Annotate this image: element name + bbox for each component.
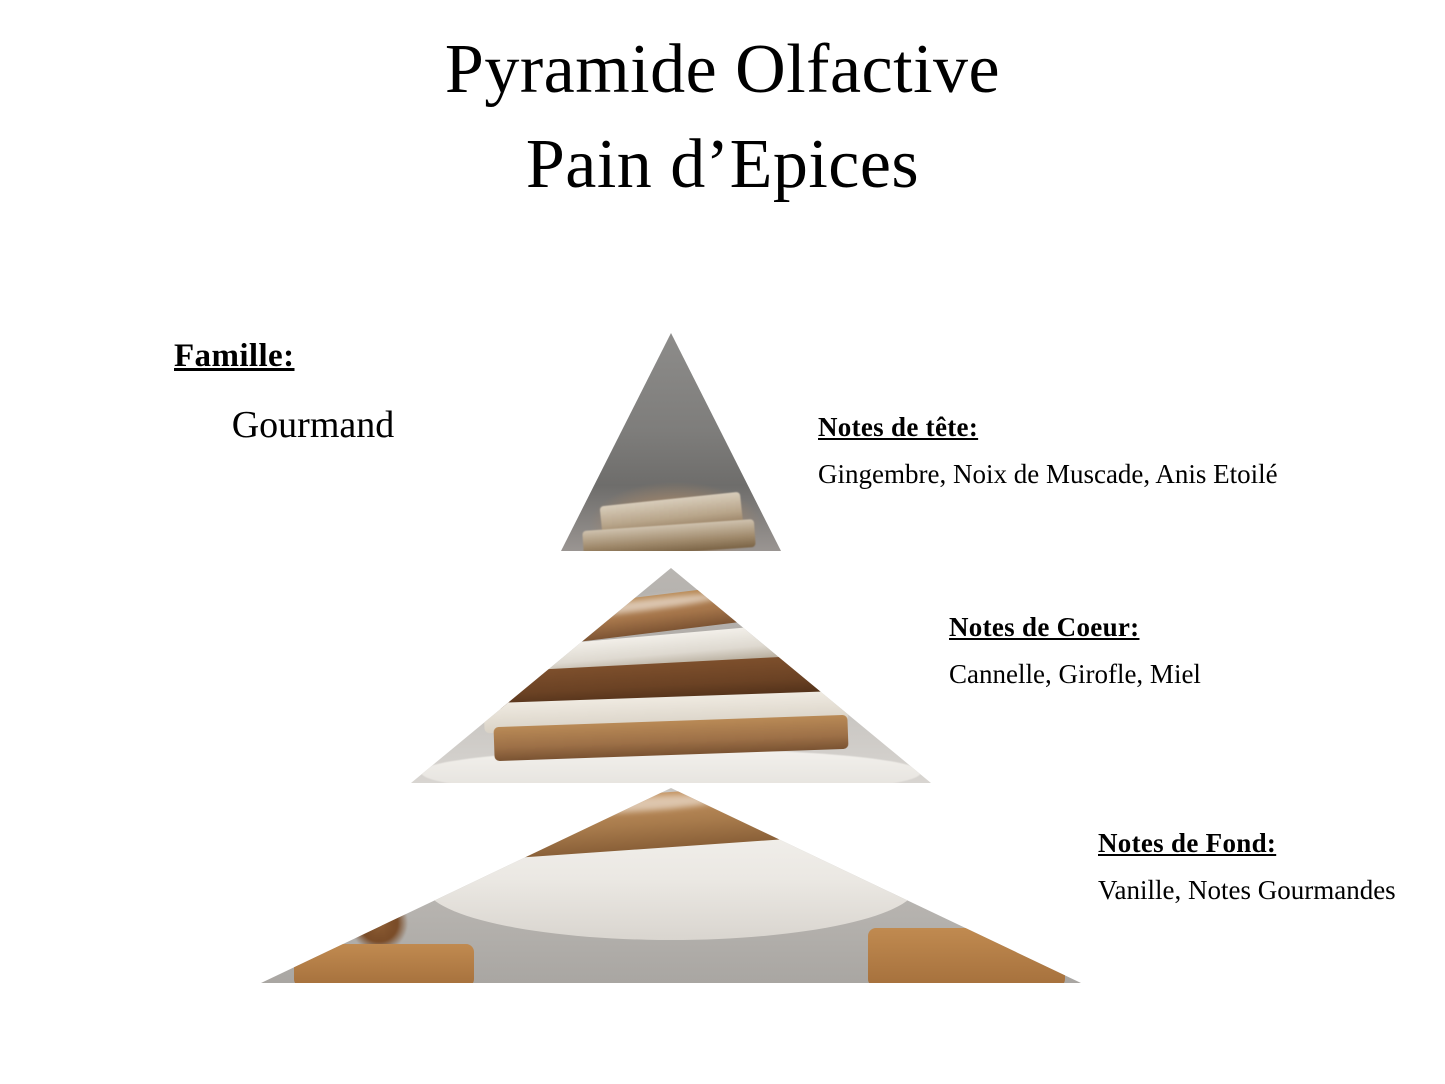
pyramid-tier-middle xyxy=(411,568,931,783)
pyramid-tier-top xyxy=(561,333,781,551)
title-line-2: Pain d’Epices xyxy=(0,117,1445,212)
note-fond-body: Vanille, Notes Gourmandes xyxy=(1098,871,1398,910)
title-line-1: Pyramide Olfactive xyxy=(0,22,1445,117)
note-coeur-body: Cannelle, Girofle, Miel xyxy=(949,655,1369,694)
gingerbread-cookie-right xyxy=(868,928,1065,983)
page-title: Pyramide Olfactive Pain d’Epices xyxy=(0,22,1445,212)
pyramid-tier-bottom xyxy=(261,788,1081,983)
note-fond-heading: Notes de Fond: xyxy=(1098,828,1398,859)
note-tete-heading: Notes de tête: xyxy=(818,412,1378,443)
note-coeur: Notes de Coeur: Cannelle, Girofle, Miel xyxy=(949,612,1369,694)
note-fond: Notes de Fond: Vanille, Notes Gourmandes xyxy=(1098,828,1398,910)
note-tete: Notes de tête: Gingembre, Noix de Muscad… xyxy=(818,412,1378,494)
note-tete-body: Gingembre, Noix de Muscade, Anis Etoilé xyxy=(818,455,1378,494)
gingerbread-cookie-left xyxy=(294,944,474,983)
note-coeur-heading: Notes de Coeur: xyxy=(949,612,1369,643)
